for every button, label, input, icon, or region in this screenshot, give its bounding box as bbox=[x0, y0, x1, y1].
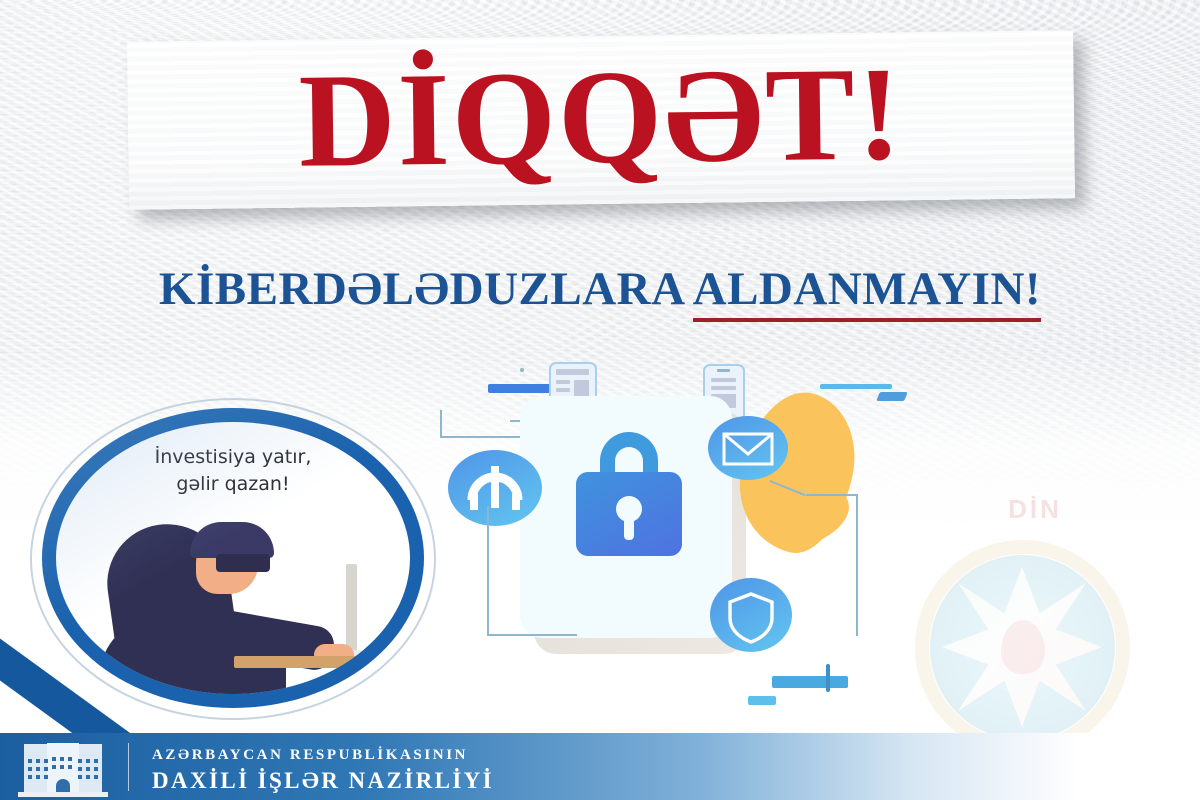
building-base bbox=[18, 792, 108, 797]
subtitle: KİBERDƏLƏDUZLARA ALDANMAYIN! bbox=[0, 262, 1200, 316]
circuit-line bbox=[806, 494, 858, 496]
footer-divider bbox=[128, 743, 129, 791]
cyber-fraud-awareness-poster: DİN DİQQƏT! KİBERDƏLƏDUZLARA ALDANMAYIN! bbox=[0, 0, 1200, 800]
subtitle-part-one: KİBERDƏLƏDUZLARA bbox=[159, 263, 693, 315]
bank-icon bbox=[448, 450, 542, 526]
circuit-chip-bar bbox=[876, 392, 908, 401]
ministry-line-one: AZƏRBAYCAN RESPUBLİKASININ bbox=[152, 744, 494, 767]
building-door bbox=[56, 779, 70, 793]
scam-bait-text: İnvestisiya yatır, gəlir qazan! bbox=[56, 444, 410, 498]
subtitle-part-two: ALDANMAYIN! bbox=[693, 263, 1041, 322]
keyhole-stem bbox=[624, 514, 634, 540]
headline-banner: DİQQƏT! bbox=[127, 30, 1075, 210]
circuit-line bbox=[440, 410, 442, 438]
decorative-bar bbox=[826, 664, 830, 692]
page-title: DİQQƏT! bbox=[127, 30, 1075, 210]
decorative-dot bbox=[520, 368, 524, 372]
circuit-chip-bar bbox=[488, 384, 556, 393]
envelope-icon bbox=[708, 416, 788, 480]
shield-icon bbox=[710, 578, 792, 652]
ministry-line-two: DAXİLİ İŞLƏR NAZİRLİYİ bbox=[152, 767, 494, 796]
ministry-building-icon bbox=[16, 741, 110, 793]
circuit-line bbox=[856, 494, 858, 636]
building-roof-right bbox=[76, 744, 102, 751]
hacker-cap bbox=[190, 522, 274, 558]
ministry-name: AZƏRBAYCAN RESPUBLİKASININ DAXİLİ İŞLƏR … bbox=[152, 744, 494, 795]
hacker-sunglasses bbox=[216, 554, 270, 572]
decorative-bar bbox=[748, 696, 776, 705]
circuit-line bbox=[487, 634, 577, 636]
decorative-bar bbox=[772, 676, 848, 688]
circuit-line bbox=[487, 506, 489, 636]
magnifier-icon: İnvestisiya yatır, gəlir qazan! bbox=[42, 408, 424, 708]
bait-line-one: İnvestisiya yatır, bbox=[155, 446, 312, 468]
laptop-screen bbox=[346, 564, 357, 658]
circuit-chip-bar bbox=[820, 384, 892, 389]
desk-surface bbox=[234, 656, 394, 668]
ministry-footer-bar: AZƏRBAYCAN RESPUBLİKASININ DAXİLİ İŞLƏR … bbox=[0, 733, 1200, 800]
bait-line-two: gəlir qazan! bbox=[176, 473, 289, 495]
